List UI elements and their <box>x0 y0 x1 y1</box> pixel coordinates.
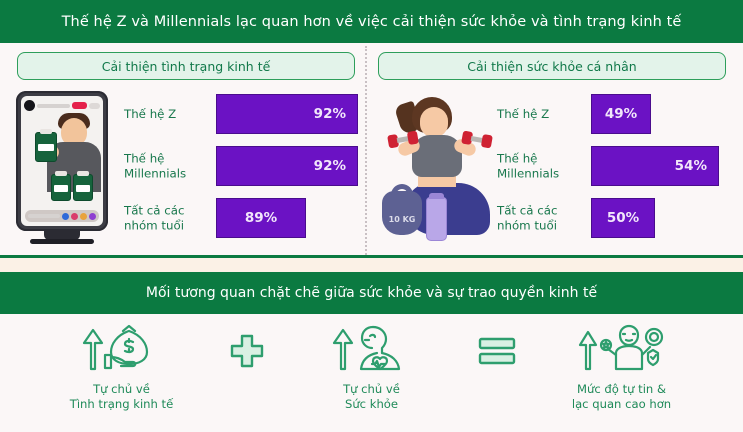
equation-term-confidence-caption: Mức độ tự tin & lạc quan cao hơn <box>572 382 671 412</box>
tab-health-improvement[interactable]: Cải thiện sức khỏe cá nhân <box>378 52 726 80</box>
bar-value-label: 89% <box>245 210 277 226</box>
confident-person-up-arrow-icon <box>576 322 668 376</box>
equation-term-confidence: Mức độ tự tin & lạc quan cao hơn <box>527 314 717 412</box>
charts-card: Cải thiện tình trạng kinh tế Cải thiện s… <box>0 43 743 258</box>
bar-category-label: Tất cả các nhóm tuổi <box>497 204 557 233</box>
separator-band <box>0 258 743 272</box>
page-title: Thế hệ Z và Millennials lạc quan hơn về … <box>62 14 682 30</box>
header-banner: Thế hệ Z và Millennials lạc quan hơn về … <box>0 0 743 43</box>
bar-all-ages: 89% <box>216 198 306 238</box>
hand-money-bag-up-arrow-icon <box>79 322 165 376</box>
bar-value-label: 92% <box>314 158 346 174</box>
tab-economic-improvement[interactable]: Cải thiện tình trạng kinh tế <box>17 52 355 80</box>
bar-value-label: 54% <box>675 158 707 174</box>
bar-category-label: Tất cả các nhóm tuổi <box>124 204 184 233</box>
chart-row: Tất cả các nhóm tuổi 50% <box>367 194 743 242</box>
economic-chart: Thế hệ Z 92% Thế hệ Millennials 92% Tất … <box>0 90 365 250</box>
person-heart-up-arrow-icon <box>329 322 415 376</box>
chart-row: Thế hệ Millennials 54% <box>367 142 743 190</box>
equation-term-health-caption: Tự chủ về Sức khỏe <box>343 382 400 412</box>
bar-category-label: Thế hệ Z <box>497 107 549 122</box>
tab-economic-improvement-label: Cải thiện tình trạng kinh tế <box>102 59 271 74</box>
bar-category-label: Thế hệ Z <box>124 107 176 122</box>
health-chart: Thế hệ Z 49% Thế hệ Millennials 54% Tất … <box>367 90 743 250</box>
bar-genz: 49% <box>591 94 651 134</box>
bar-category-label: Thế hệ Millennials <box>497 152 559 181</box>
bar-millennials: 54% <box>591 146 719 186</box>
tab-health-improvement-label: Cải thiện sức khỏe cá nhân <box>467 59 636 74</box>
equation-term-economic: Tự chủ về Tình trạng kinh tế <box>27 314 217 412</box>
chart-row: Thế hệ Z 49% <box>367 90 743 138</box>
bar-value-label: 49% <box>605 106 637 122</box>
bar-value-label: 92% <box>314 106 346 122</box>
chart-row: Thế hệ Z 92% <box>0 90 365 138</box>
equation-term-health: Tự chủ về Sức khỏe <box>277 314 467 412</box>
bar-genz: 92% <box>216 94 358 134</box>
plus-icon <box>217 314 277 388</box>
infographic-page: Thế hệ Z và Millennials lạc quan hơn về … <box>0 0 743 432</box>
equals-icon <box>467 314 527 388</box>
bar-category-label: Thế hệ Millennials <box>124 152 186 181</box>
bar-millennials: 92% <box>216 146 358 186</box>
chart-row: Tất cả các nhóm tuổi 89% <box>0 194 365 242</box>
banner-title: Mối tương quan chặt chẽ giữa sức khỏe và… <box>146 285 597 301</box>
correlation-banner: Mối tương quan chặt chẽ giữa sức khỏe và… <box>0 272 743 314</box>
chart-row: Thế hệ Millennials 92% <box>0 142 365 190</box>
footer-equation: Tự chủ về Tình trạng kinh tế <box>0 314 743 432</box>
bar-value-label: 50% <box>607 210 639 226</box>
equation-term-economic-caption: Tự chủ về Tình trạng kinh tế <box>70 382 174 412</box>
bar-all-ages: 50% <box>591 198 655 238</box>
